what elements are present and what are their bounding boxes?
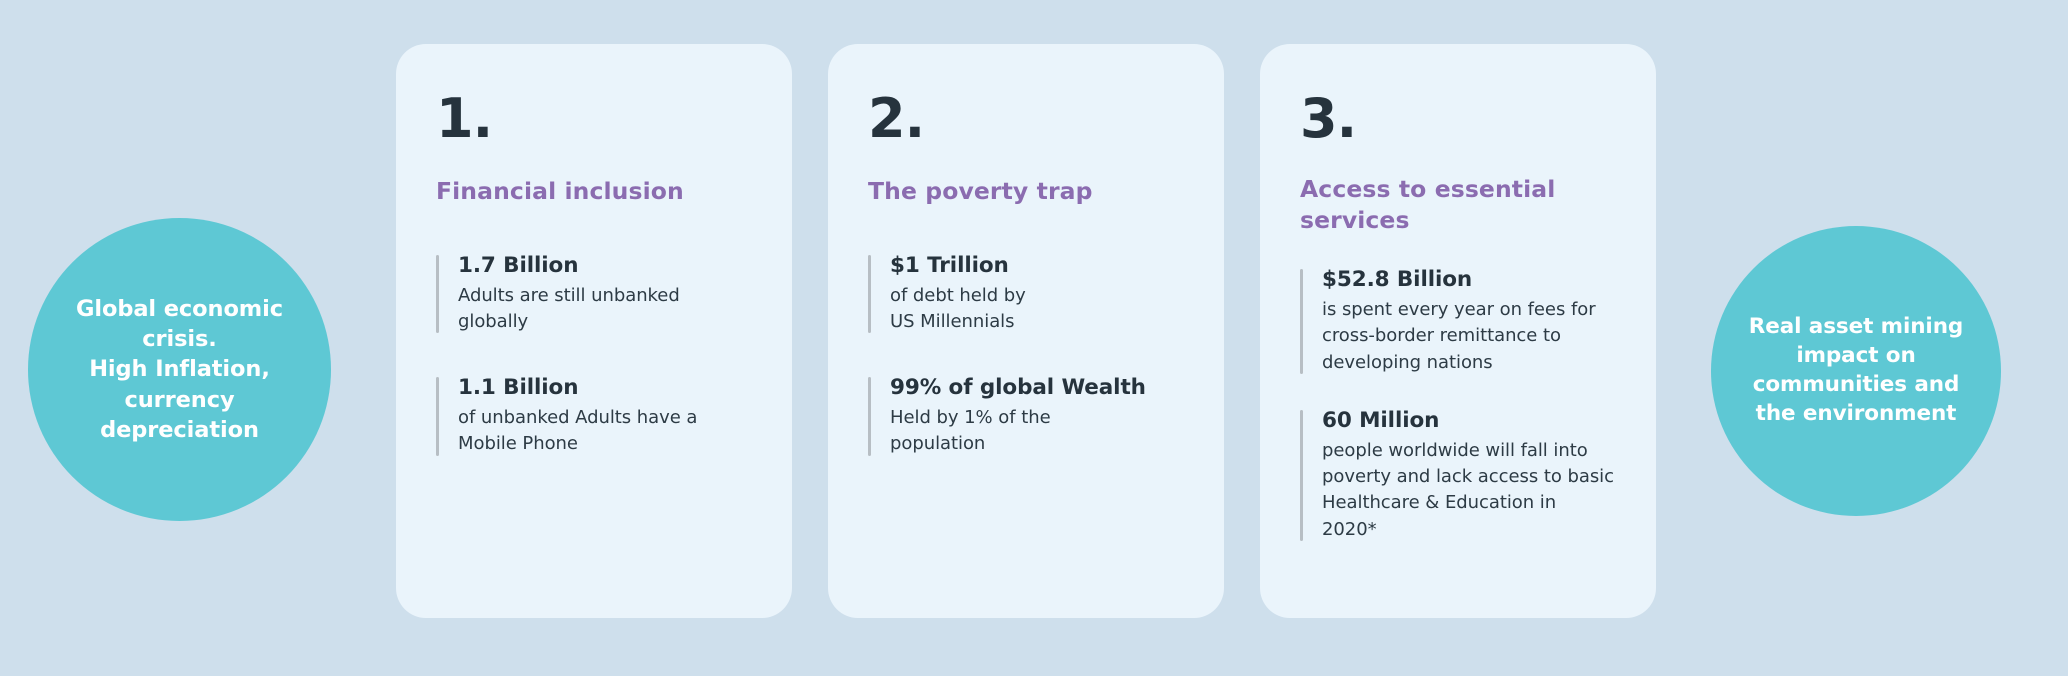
- accent-bar-icon: [1300, 410, 1303, 541]
- card-heading: Financial inclusion: [436, 176, 752, 207]
- accent-bar-icon: [868, 377, 871, 456]
- stat-description: of debt held by US Millennials: [890, 283, 1184, 336]
- card-heading: Access to essential services: [1300, 174, 1616, 235]
- stat-block: 99% of global Wealth Held by 1% of the p…: [868, 373, 1184, 458]
- accent-bar-icon: [436, 377, 439, 456]
- accent-bar-icon: [1300, 269, 1303, 374]
- stat-block: 1.1 Billion of unbanked Adults have a Mo…: [436, 373, 752, 458]
- stat-description: Held by 1% of the population: [890, 405, 1184, 458]
- stat-block: $1 Trillion of debt held by US Millennia…: [868, 251, 1184, 336]
- card-number: 2.: [868, 92, 1184, 146]
- stat-block: $52.8 Billion is spent every year on fee…: [1300, 265, 1616, 376]
- stat-title: 99% of global Wealth: [890, 373, 1184, 402]
- accent-bar-icon: [436, 255, 439, 334]
- card-stats-list: 1.7 Billion Adults are still unbanked gl…: [436, 251, 752, 458]
- stat-title: 1.7 Billion: [458, 251, 752, 280]
- card-heading: The poverty trap: [868, 176, 1184, 207]
- card-financial-inclusion[interactable]: 1. Financial inclusion 1.7 Billion Adult…: [396, 44, 792, 618]
- cards-row: 1. Financial inclusion 1.7 Billion Adult…: [396, 44, 1656, 618]
- right-circle-text: Real asset mining impact on communities …: [1711, 313, 2001, 428]
- infographic-stage: Global economic crisis. High Inflation, …: [0, 0, 2068, 676]
- card-stats-list: $1 Trillion of debt held by US Millennia…: [868, 251, 1184, 458]
- card-number: 3.: [1300, 92, 1616, 146]
- stat-title: $52.8 Billion: [1322, 265, 1616, 294]
- stat-description: is spent every year on fees for cross-bo…: [1322, 297, 1616, 376]
- card-number: 1.: [436, 92, 752, 146]
- stat-block: 60 Million people worldwide will fall in…: [1300, 406, 1616, 543]
- stat-title: $1 Trillion: [890, 251, 1184, 280]
- left-circle-text: Global economic crisis. High Inflation, …: [28, 294, 331, 445]
- stat-title: 60 Million: [1322, 406, 1616, 435]
- stat-title: 1.1 Billion: [458, 373, 752, 402]
- stat-description: Adults are still unbanked globally: [458, 283, 752, 336]
- accent-bar-icon: [868, 255, 871, 334]
- stat-description: people worldwide will fall into poverty …: [1322, 438, 1616, 543]
- card-stats-list: $52.8 Billion is spent every year on fee…: [1300, 265, 1616, 543]
- stat-block: 1.7 Billion Adults are still unbanked gl…: [436, 251, 752, 336]
- left-context-circle: Global economic crisis. High Inflation, …: [28, 218, 331, 521]
- card-access-to-essential-services[interactable]: 3. Access to essential services $52.8 Bi…: [1260, 44, 1656, 618]
- right-context-circle: Real asset mining impact on communities …: [1711, 226, 2001, 516]
- stat-description: of unbanked Adults have a Mobile Phone: [458, 405, 752, 458]
- card-poverty-trap[interactable]: 2. The poverty trap $1 Trillion of debt …: [828, 44, 1224, 618]
